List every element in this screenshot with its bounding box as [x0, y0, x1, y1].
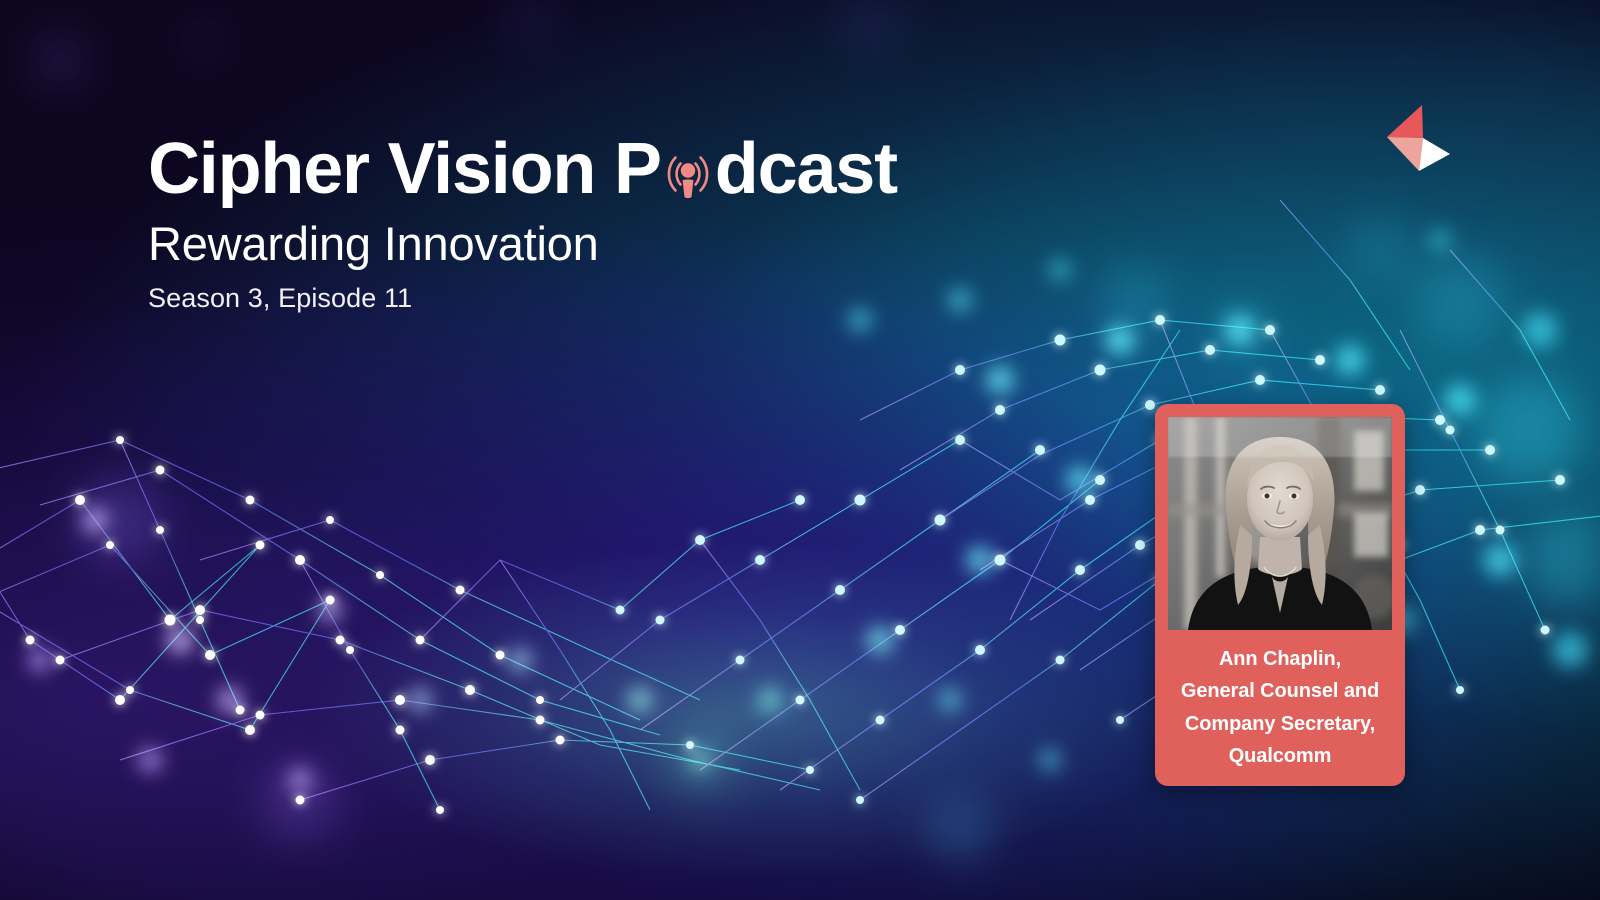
avatar [1168, 417, 1392, 630]
headline-block: Cipher Vision P dcast R [148, 133, 1148, 314]
speaker-caption-line: General Counsel and [1161, 675, 1399, 707]
podcast-microphone-icon [660, 142, 716, 198]
page-title: Cipher Vision P dcast [148, 133, 1148, 205]
episode-subtitle: Rewarding Innovation [148, 219, 1148, 268]
speaker-caption-line: Ann Chaplin, [1161, 643, 1399, 675]
speaker-caption-line: Qualcomm [1161, 740, 1399, 772]
title-text-after-icon: dcast [715, 133, 897, 205]
title-text-before-icon: Cipher Vision P [148, 133, 661, 205]
poster-canvas: Cipher Vision P dcast R [0, 0, 1600, 900]
season-episode-label: Season 3, Episode 11 [148, 283, 1148, 314]
speaker-caption: Ann Chaplin, General Counsel and Company… [1161, 643, 1399, 773]
speaker-caption-line: Company Secretary, [1161, 708, 1399, 740]
brand-logo-icon[interactable] [1361, 101, 1453, 175]
speaker-card[interactable]: Ann Chaplin, General Counsel and Company… [1155, 404, 1405, 786]
